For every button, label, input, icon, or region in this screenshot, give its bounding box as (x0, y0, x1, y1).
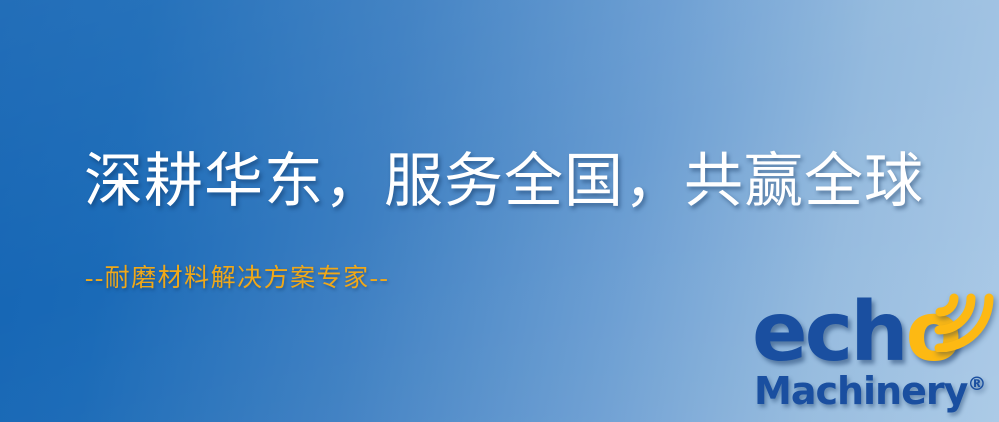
logo-subtext-label: Machinery (754, 369, 967, 413)
echo-signal-waves-icon (931, 290, 997, 352)
logo-wordmark: echo (752, 292, 959, 374)
registered-trademark-icon: ® (967, 373, 986, 395)
banner-subtitle: --耐磨材料解决方案专家-- (85, 266, 389, 291)
logo-subtext: Machinery® (754, 372, 986, 410)
logo-text-ech: ech (752, 285, 906, 380)
banner-headline: 深耕华东，服务全国，共赢全球 (84, 152, 924, 211)
echo-machinery-logo[interactable]: echo Machinery® (752, 292, 999, 422)
hero-banner: 深耕华东，服务全国，共赢全球 --耐磨材料解决方案专家-- echo Machi… (0, 0, 999, 422)
